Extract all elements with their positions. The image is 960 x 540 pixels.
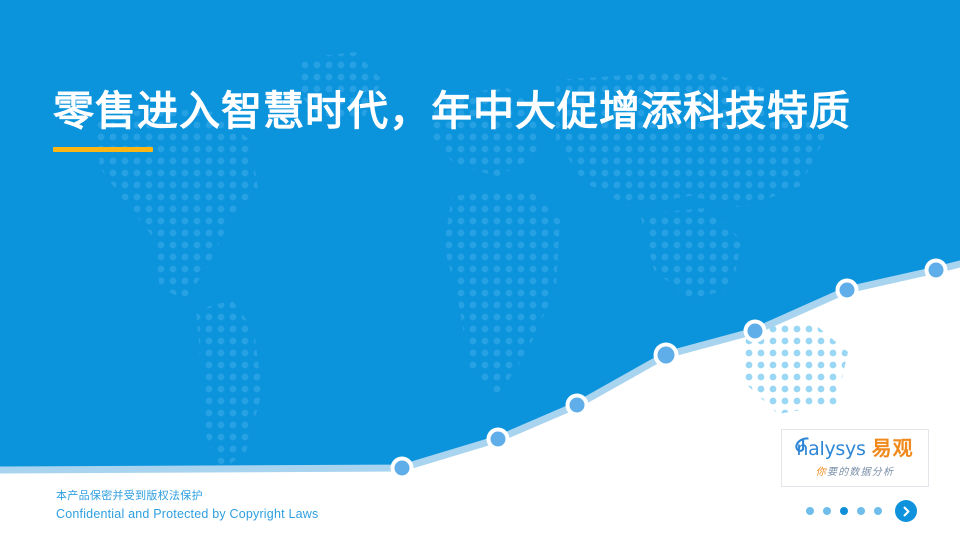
next-slide-button[interactable] xyxy=(895,500,917,522)
chart-node xyxy=(744,320,767,343)
pager-dot-4[interactable] xyxy=(857,507,865,515)
pager-dot-2[interactable] xyxy=(823,507,831,515)
page-title: 零售进入智慧时代，年中大促增添科技特质 xyxy=(53,88,923,135)
confidentiality-note-cn: 本产品保密并受到版权法保护 xyxy=(56,488,318,505)
chart-node xyxy=(925,259,948,282)
analysys-swirl-icon xyxy=(795,437,809,454)
chart-node xyxy=(487,428,510,451)
chart-node xyxy=(836,279,859,302)
title-block: 零售进入智慧时代，年中大促增添科技特质 xyxy=(53,88,923,152)
pager-dot-5[interactable] xyxy=(874,507,882,515)
confidentiality-note: 本产品保密并受到版权法保护 Confidential and Protected… xyxy=(56,488,318,524)
brand-tagline-first: 你 xyxy=(816,467,827,478)
brand-logo-card: nalysys 易观 你要的数据分析 xyxy=(781,429,929,487)
brand-tagline: 你要的数据分析 xyxy=(816,463,894,478)
slide-pager[interactable] xyxy=(806,500,917,522)
brand-tagline-rest: 要的数据分析 xyxy=(827,467,894,478)
brand-wordmark-cn: 易观 xyxy=(872,439,914,459)
confidentiality-note-en: Confidential and Protected by Copyright … xyxy=(56,505,318,524)
chevron-right-icon xyxy=(901,506,912,517)
brand-wordmark: nalysys 易观 xyxy=(796,439,913,459)
chart-node xyxy=(566,394,589,417)
chart-node xyxy=(391,457,414,480)
brand-wordmark-en: nalysys xyxy=(796,440,865,459)
title-underline-accent xyxy=(53,147,153,152)
pager-dot-3[interactable] xyxy=(840,507,848,515)
pager-dot-1[interactable] xyxy=(806,507,814,515)
slide-canvas: 零售进入智慧时代，年中大促增添科技特质 本产品保密并受到版权法保护 Confid… xyxy=(0,0,960,540)
chart-node xyxy=(654,343,679,368)
